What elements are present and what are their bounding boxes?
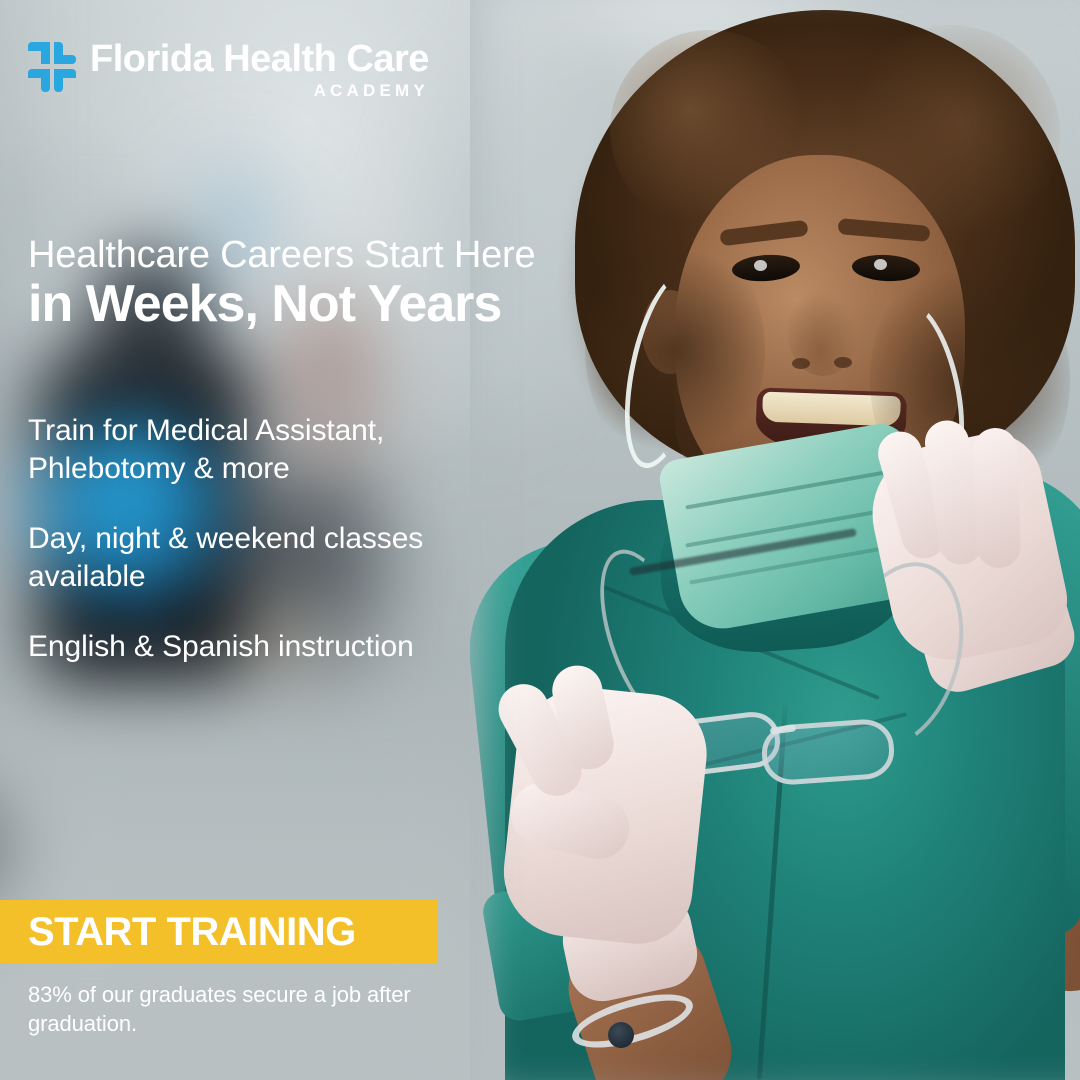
- ad-content: Florida Health Care ACADEMY Healthcare C…: [0, 0, 1080, 1080]
- benefit-item-2: Day, night & weekend classes available: [28, 520, 548, 596]
- headline: Healthcare Careers Start Here in Weeks, …: [28, 233, 535, 333]
- brand-sub: ACADEMY: [90, 81, 429, 101]
- benefit-list: Train for Medical Assistant, Phlebotomy …: [28, 412, 548, 666]
- benefit-item-1: Train for Medical Assistant, Phlebotomy …: [28, 412, 548, 488]
- cta-label: START TRAINING: [28, 910, 356, 954]
- ad-creative: Florida Health Care ACADEMY Healthcare C…: [0, 0, 1080, 1080]
- headline-line-1: Healthcare Careers Start Here: [28, 233, 535, 277]
- headline-line-2: in Weeks, Not Years: [28, 275, 535, 333]
- brand-name: Florida Health Care: [90, 38, 429, 80]
- brand-logo-text: Florida Health Care ACADEMY: [90, 38, 429, 101]
- brand-logo[interactable]: Florida Health Care ACADEMY: [28, 38, 429, 101]
- benefit-item-3: English & Spanish instruction: [28, 628, 548, 666]
- plus-cross-icon: [28, 42, 76, 92]
- graduate-stat-footnote: 83% of our graduates secure a job after …: [28, 980, 428, 1038]
- start-training-button[interactable]: START TRAINING: [0, 900, 438, 963]
